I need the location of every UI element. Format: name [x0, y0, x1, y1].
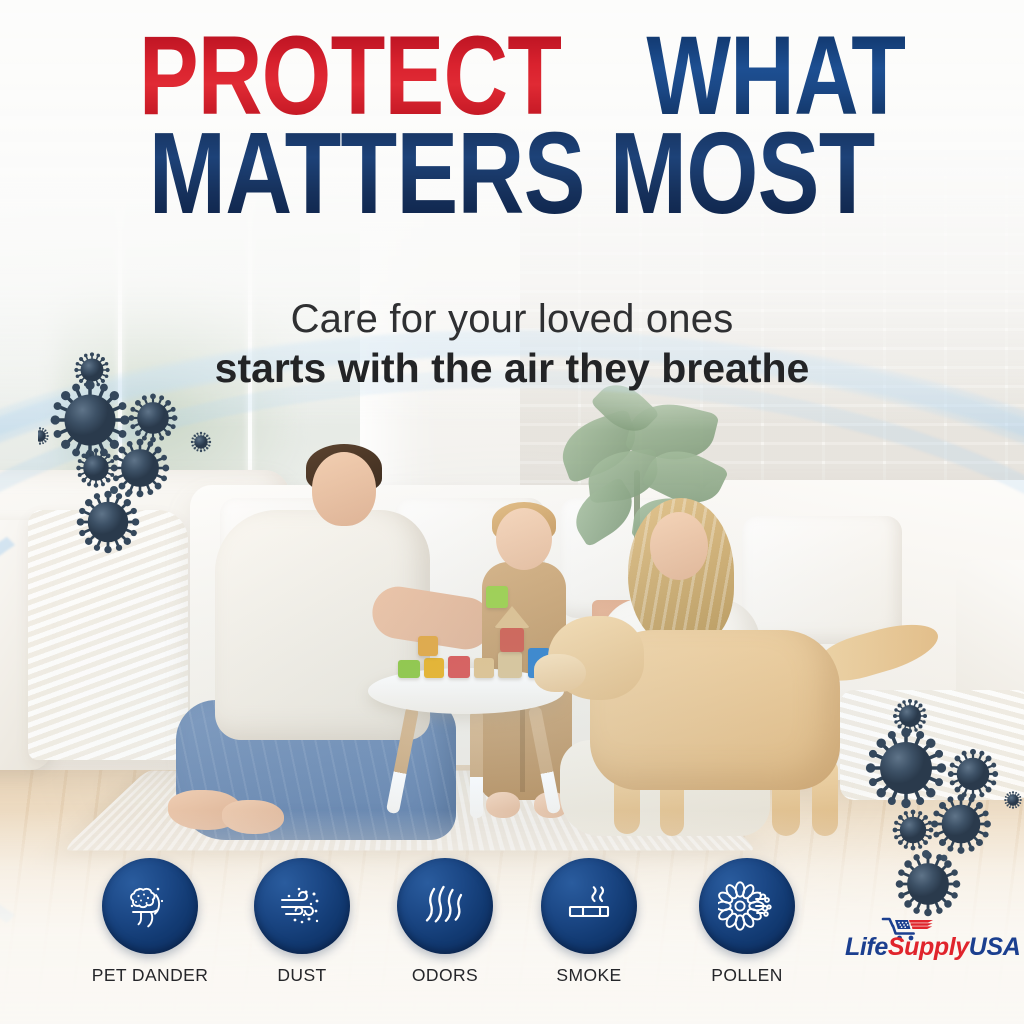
feature-smoke[interactable]: SMOKE: [509, 858, 669, 986]
toy-block: [474, 658, 494, 678]
toy-block: [418, 636, 438, 656]
toy-block: [398, 660, 420, 678]
dog-snout: [534, 654, 586, 692]
dust-icon: [273, 877, 331, 935]
brand-logo[interactable]: LifeSupplyUSA: [845, 918, 1015, 982]
feature-label: DUST: [222, 965, 382, 986]
feature-circle[interactable]: [541, 858, 637, 954]
subheadline-line-2: starts with the air they breathe: [0, 345, 1024, 393]
table-leg: [470, 710, 483, 818]
feature-circle[interactable]: [397, 858, 493, 954]
smoke-icon: [560, 877, 618, 935]
throw-blanket-left: [28, 510, 188, 760]
feature-pollen[interactable]: POLLEN: [667, 858, 827, 986]
subheadline-line-1: Care for your loved ones: [0, 296, 1024, 343]
toy-block: [500, 628, 524, 652]
feature-label: PET DANDER: [70, 965, 230, 986]
pollen-icon: [718, 877, 776, 935]
feature-label: SMOKE: [509, 965, 669, 986]
brand-name-part3: USA: [969, 933, 1021, 961]
feature-odors[interactable]: ODORS: [365, 858, 525, 986]
headline-line-2: MATTERS MOST: [0, 121, 1024, 225]
toddler-head: [496, 508, 552, 570]
brand-logo-text: LifeSupplyUSA: [845, 935, 1015, 960]
pet-dander-icon: [120, 876, 180, 936]
toy-block: [486, 586, 508, 608]
feature-circle[interactable]: [254, 858, 350, 954]
subheadline: Care for your loved ones starts with the…: [0, 296, 1024, 393]
marketing-banner: PROTECTWHAT MATTERS MOST Care for your l…: [0, 0, 1024, 1024]
feature-pet-dander[interactable]: PET DANDER: [70, 858, 230, 986]
toy-block: [498, 652, 522, 678]
man-head: [312, 452, 376, 526]
toy-block: [448, 656, 470, 678]
brand-name-part2: Supply: [888, 933, 969, 961]
feature-dust[interactable]: DUST: [222, 858, 382, 986]
sofa-cushion: [742, 516, 902, 644]
brand-name-part1: Life: [845, 933, 888, 961]
feature-circle[interactable]: [102, 858, 198, 954]
feature-label: POLLEN: [667, 965, 827, 986]
headline: PROTECTWHAT MATTERS MOST: [0, 26, 1024, 225]
feature-icon-row: PET DANDER: [52, 858, 772, 998]
toddler-foot: [486, 792, 520, 818]
woman-head: [650, 512, 708, 580]
throw-blanket-right: [840, 690, 1024, 800]
man-foot: [222, 800, 284, 834]
toy-block: [424, 658, 444, 678]
headline-word-matters-most: MATTERS MOST: [149, 121, 875, 225]
odors-icon: [416, 877, 474, 935]
feature-circle[interactable]: [699, 858, 795, 954]
feature-label: ODORS: [365, 965, 525, 986]
